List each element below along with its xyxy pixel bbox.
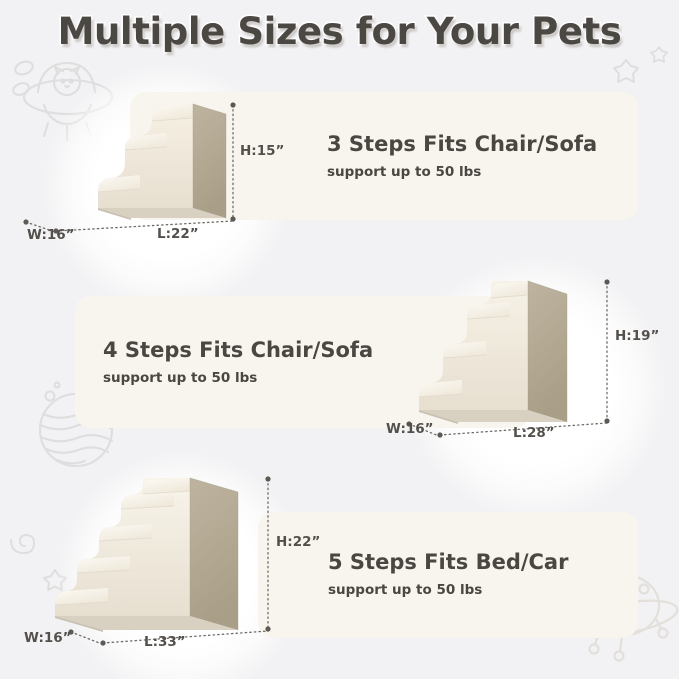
- dimension-height-2: H:19”: [615, 328, 659, 344]
- product-text-1: 3 Steps Fits Chair/Sofa support up to 50…: [327, 131, 597, 182]
- product-subtitle-1: support up to 50 lbs: [327, 162, 597, 182]
- dimension-length-3: L:33”: [144, 634, 186, 650]
- product-title-3: 5 Steps Fits Bed/Car: [328, 549, 568, 575]
- star-doodle: [611, 56, 641, 86]
- product-image-four-step: [416, 278, 596, 428]
- infographic-canvas: Multiple Sizes for Your Pets: [0, 0, 679, 679]
- product-title-2: 4 Steps Fits Chair/Sofa: [103, 337, 373, 363]
- product-image-three-step: [95, 96, 245, 226]
- product-text-3: 5 Steps Fits Bed/Car support up to 50 lb…: [328, 549, 568, 600]
- product-text-2: 4 Steps Fits Chair/Sofa support up to 50…: [103, 337, 373, 388]
- spiral-doodle: [8, 524, 42, 558]
- dimension-length-2: L:28”: [513, 425, 555, 441]
- product-subtitle-3: support up to 50 lbs: [328, 580, 568, 600]
- dimension-width-3: W:16”: [24, 630, 72, 646]
- product-subtitle-2: support up to 50 lbs: [103, 368, 373, 388]
- dimension-height-1: H:15”: [240, 143, 284, 159]
- product-image-five-step: [52, 475, 282, 635]
- dimension-length-1: L:22”: [157, 226, 199, 242]
- dimension-height-3: H:22”: [276, 534, 320, 550]
- dimension-width-1: W:16”: [27, 227, 75, 243]
- dimension-width-2: W:16”: [386, 421, 434, 437]
- page-title: Multiple Sizes for Your Pets: [0, 6, 679, 58]
- product-title-1: 3 Steps Fits Chair/Sofa: [327, 131, 597, 157]
